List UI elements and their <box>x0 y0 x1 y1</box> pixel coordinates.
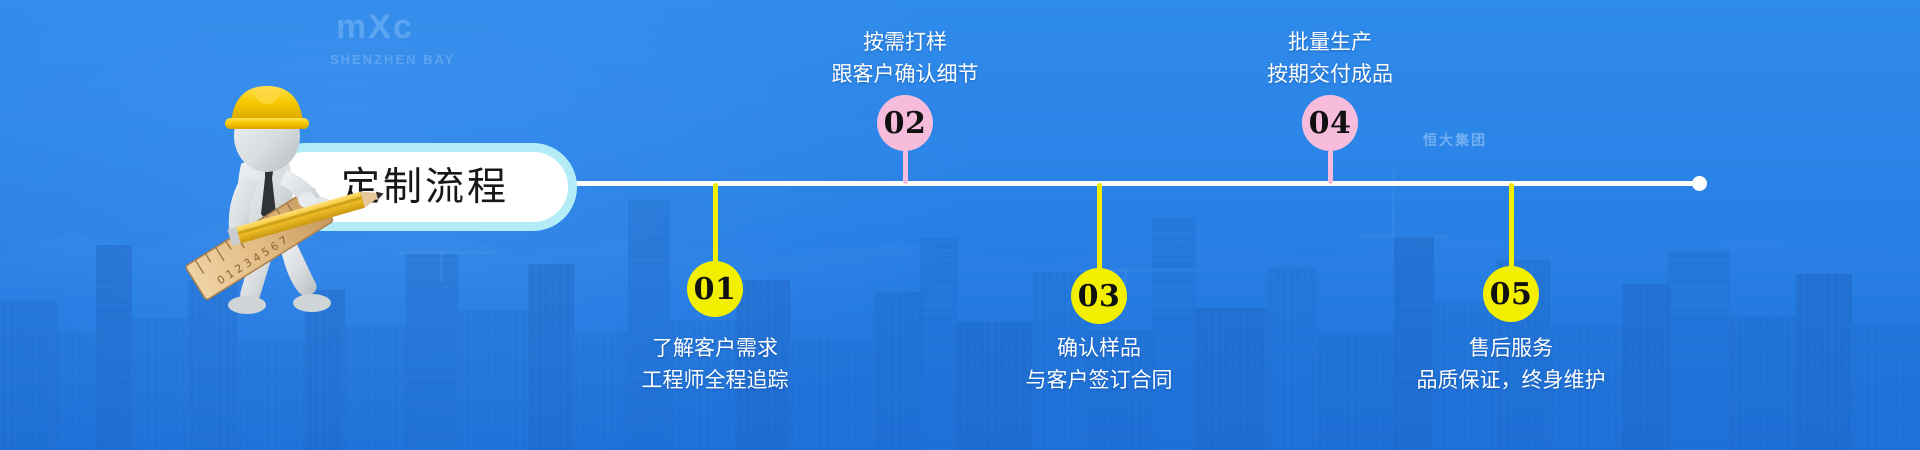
watermark-logo-right: 恒大集团 <box>1423 130 1487 150</box>
step-stem-03 <box>1097 183 1102 271</box>
custom-process-banner: mXc SHENZHEN BAY 恒大集团 定制流程 <box>0 0 1920 450</box>
step-caption-05-line2: 品质保证，终身维护 <box>1331 364 1691 396</box>
step-badge-03[interactable]: 03 <box>1071 268 1127 324</box>
step-stem-02 <box>903 150 908 184</box>
step-caption-01-line1: 了解客户需求 <box>565 332 865 364</box>
step-badge-05[interactable]: 05 <box>1483 266 1539 322</box>
step-caption-03-line2: 与客户签订合同 <box>939 364 1259 396</box>
step-caption-03: 确认样品 与客户签订合同 <box>939 332 1259 396</box>
timeline-end-dot <box>1692 176 1707 191</box>
step-stem-01 <box>713 183 718 265</box>
step-caption-01-line2: 工程师全程追踪 <box>565 364 865 396</box>
step-caption-05: 售后服务 品质保证，终身维护 <box>1331 332 1691 396</box>
step-caption-04-line1: 批量生产 <box>1180 26 1480 58</box>
step-stem-05 <box>1509 183 1514 269</box>
watermark-logo-top: mXc <box>336 8 414 47</box>
step-badge-04[interactable]: 04 <box>1302 95 1358 151</box>
step-caption-02: 按需打样 跟客户确认细节 <box>755 26 1055 90</box>
step-caption-01: 了解客户需求 工程师全程追踪 <box>565 332 865 396</box>
step-caption-04: 批量生产 按期交付成品 <box>1180 26 1480 90</box>
step-caption-05-line1: 售后服务 <box>1331 332 1691 364</box>
step-stem-04 <box>1328 150 1333 184</box>
step-badge-01[interactable]: 01 <box>687 261 743 317</box>
step-caption-04-line2: 按期交付成品 <box>1180 58 1480 90</box>
step-caption-02-line1: 按需打样 <box>755 26 1055 58</box>
step-caption-02-line2: 跟客户确认细节 <box>755 58 1055 90</box>
step-caption-03-line1: 确认样品 <box>939 332 1259 364</box>
engineer-mascot: 0 1 2 3 4 5 6 7 <box>175 62 385 322</box>
step-badge-02[interactable]: 02 <box>877 95 933 151</box>
timeline-line <box>575 181 1703 186</box>
